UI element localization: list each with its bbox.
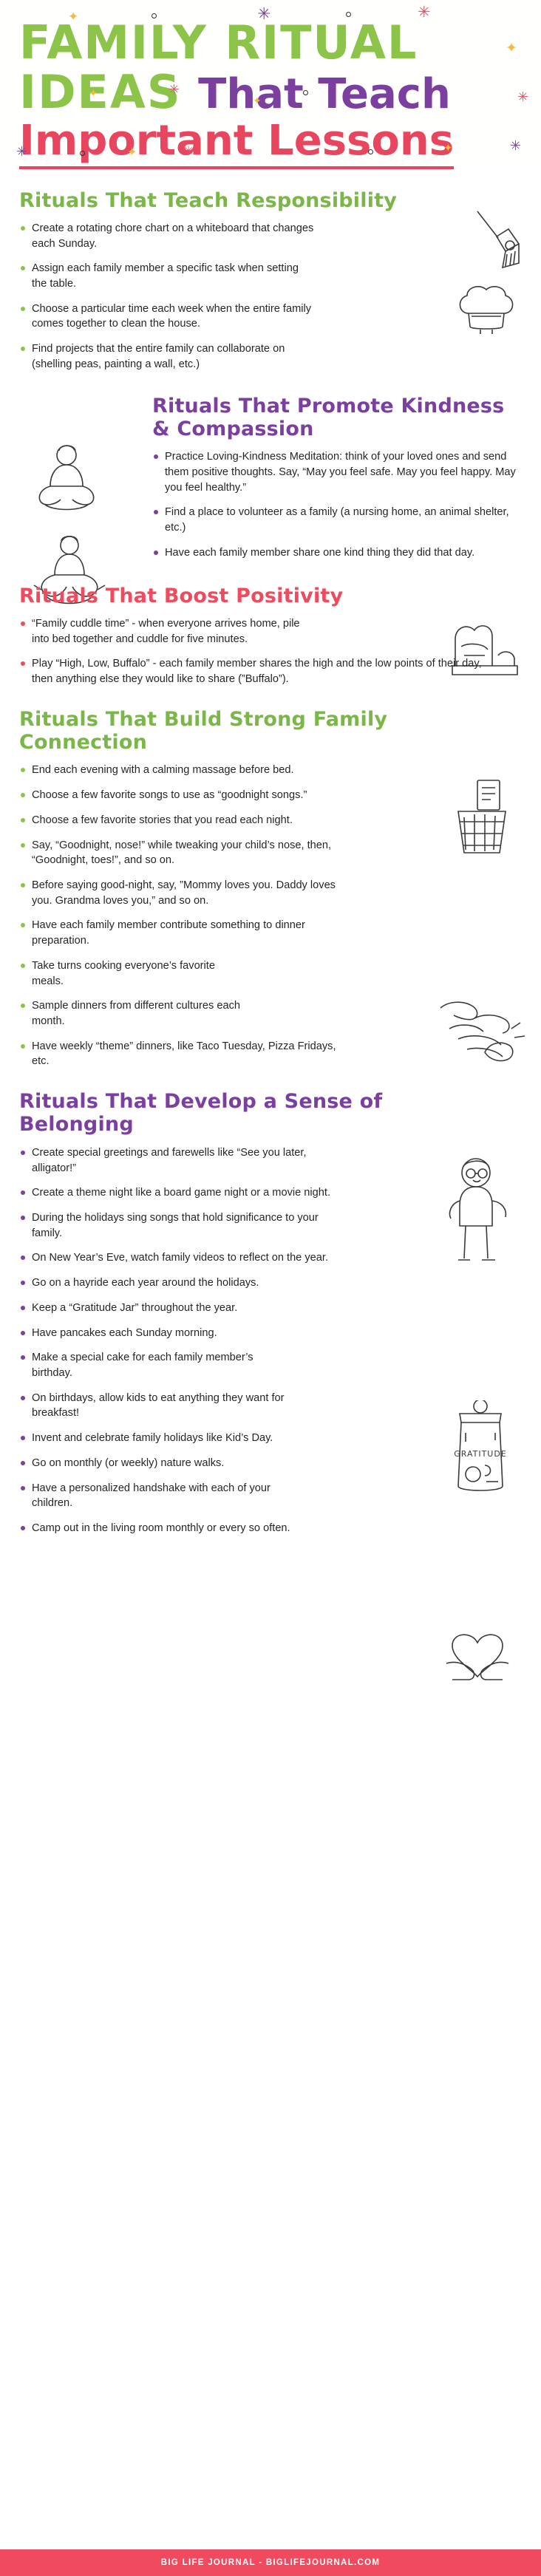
list-item: Choose a particular time each week when …	[19, 301, 315, 332]
list-item: Have weekly “theme” dinners, like Taco T…	[19, 1039, 348, 1069]
list-item: Assign each family member a specific tas…	[19, 261, 315, 291]
section-family-connection: Rituals That Build Strong Family Connect…	[0, 708, 541, 1069]
section-positivity: Rituals That Boost Positivity “Family cu…	[0, 585, 541, 687]
list-item: Make a special cake for each family memb…	[19, 1350, 278, 1380]
bullet-list: Create a rotating chore chart on a white…	[19, 221, 315, 372]
list-item: Create a rotating chore chart on a white…	[19, 221, 315, 251]
list-item: Choose a few favorite songs to use as “g…	[19, 788, 348, 803]
section-heading: Rituals That Promote Kindness & Compassi…	[152, 395, 522, 441]
list-item: Camp out in the living room monthly or e…	[19, 1521, 348, 1536]
list-item: Have each family member share one kind t…	[152, 545, 522, 561]
hero-title-block: FAMILY RITUAL IDEAS That Teach Important…	[0, 0, 541, 170]
list-item: Take turns cooking everyone’s favorite m…	[19, 958, 241, 989]
broom-icon	[460, 208, 522, 286]
handshake-heart-icon	[439, 1618, 516, 1689]
list-item: During the holidays sing songs that hold…	[19, 1210, 348, 1241]
list-item: Go on monthly (or weekly) nature walks.	[19, 1456, 348, 1471]
basket-with-notes-icon	[443, 779, 514, 864]
list-item: Create special greetings and farewells l…	[19, 1145, 348, 1176]
section-belonging: Rituals That Develop a Sense of Belongin…	[0, 1090, 541, 1536]
section-responsibility: Rituals That Teach Responsibility Create…	[0, 189, 541, 372]
list-item: Invent and celebrate family holidays lik…	[19, 1431, 348, 1446]
list-item: Play “High, Low, Buffalo” - each family …	[19, 656, 492, 686]
bullet-list: “Family cuddle time” - when everyone arr…	[19, 616, 522, 687]
section-heading: Rituals That Teach Responsibility	[19, 189, 522, 212]
sparkle-burst-icon	[418, 4, 431, 21]
bullet-list: End each evening with a calming massage …	[19, 763, 348, 1069]
gratitude-jar-icon: GRATITUDE	[449, 1400, 511, 1500]
title-line-1: FAMILY RITUAL	[19, 19, 522, 66]
section-heading: Rituals That Build Strong Family Connect…	[19, 708, 433, 754]
list-item: Sample dinners from different cultures e…	[19, 998, 241, 1029]
section-heading: Rituals That Boost Positivity	[19, 585, 522, 607]
list-item: Have pancakes each Sunday morning.	[19, 1326, 315, 1341]
bullet-list: Practice Loving-Kindness Meditation: thi…	[152, 449, 522, 560]
list-item: On birthdays, allow kids to eat anything…	[19, 1391, 315, 1421]
title-line-3: Important Lessons	[19, 120, 522, 162]
list-item: Have a personalized handshake with each …	[19, 1481, 300, 1511]
list-item: Say, “Goodnight, nose!” while tweaking y…	[19, 838, 348, 868]
bullet-list: Create special greetings and farewells l…	[19, 1145, 348, 1536]
list-item: Practice Loving-Kindness Meditation: thi…	[152, 449, 522, 495]
hands-preparing-food-icon	[438, 986, 526, 1071]
title-line-2: IDEAS That Teach	[19, 69, 522, 115]
list-item: Have each family member contribute somet…	[19, 918, 348, 948]
list-item: Go on a hayride each year around the hol…	[19, 1275, 348, 1291]
list-item: On New Year’s Eve, watch family videos t…	[19, 1250, 330, 1266]
list-item: “Family cuddle time” - when everyone arr…	[19, 616, 315, 647]
footer-text: BIG LIFE JOURNAL - BIGLIFEJOURNAL.COM	[161, 2558, 380, 2567]
list-item: Choose a few favorite stories that you r…	[19, 813, 348, 828]
title-line-3-text: Important Lessons	[19, 117, 454, 169]
person-meditating-icon	[27, 440, 108, 521]
list-item: Find projects that the entire family can…	[19, 341, 315, 372]
footer-bar: BIG LIFE JOURNAL - BIGLIFEJOURNAL.COM	[0, 2549, 541, 2576]
svg-text:GRATITUDE: GRATITUDE	[454, 1449, 507, 1459]
list-item: Keep a “Gratitude Jar” throughout the ye…	[19, 1301, 348, 1316]
bottom-spacer	[0, 1546, 541, 1590]
section-heading: Rituals That Develop a Sense of Belongin…	[19, 1090, 433, 1137]
section-kindness: Rituals That Promote Kindness & Compassi…	[0, 395, 541, 561]
kindness-text-column: Rituals That Promote Kindness & Compassi…	[152, 395, 522, 561]
list-item: Find a place to volunteer as a family (a…	[152, 505, 522, 535]
chef-hat-icon	[455, 282, 519, 341]
list-item: End each evening with a calming massage …	[19, 763, 348, 778]
list-item: Create a theme night like a board game n…	[19, 1185, 348, 1201]
title-line-2-green: IDEAS	[19, 65, 182, 119]
boy-waving-icon	[439, 1155, 516, 1270]
list-item: Before saying good-night, say, ”Mommy lo…	[19, 878, 348, 908]
title-line-2-purple: That Teach	[198, 70, 451, 118]
